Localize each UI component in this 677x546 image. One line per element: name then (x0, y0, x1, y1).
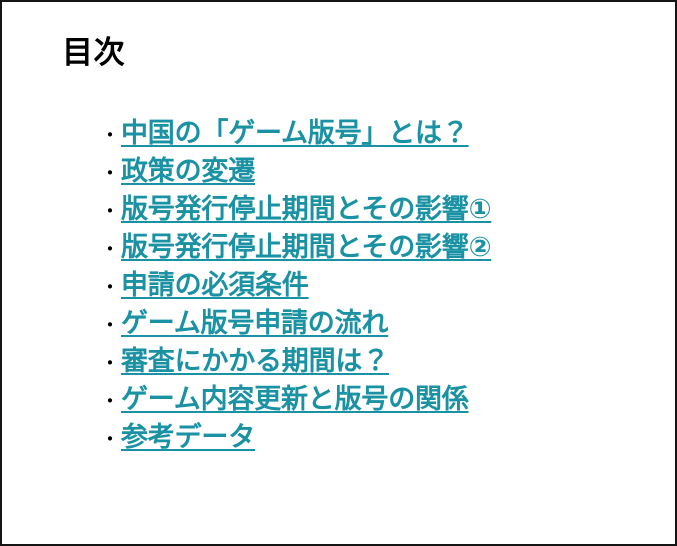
list-item: ・ 版号発行停止期間とその影響② (100, 228, 667, 266)
list-item: ・ 中国の「ゲーム版号」とは？ (100, 114, 667, 152)
bullet-icon: ・ (100, 155, 121, 193)
toc-link-1[interactable]: 中国の「ゲーム版号」とは？ (121, 114, 469, 152)
list-item: ・ ゲーム内容更新と版号の関係 (100, 380, 667, 418)
bullet-icon: ・ (100, 231, 121, 269)
list-item: ・ 政策の変遷 (100, 152, 667, 190)
list-item: ・ 審査にかかる期間は？ (100, 342, 667, 380)
toc-link-8[interactable]: ゲーム内容更新と版号の関係 (121, 380, 469, 418)
toc-link-9[interactable]: 参考データ (121, 418, 255, 456)
toc-link-2[interactable]: 政策の変遷 (121, 152, 255, 190)
toc-link-5[interactable]: 申請の必須条件 (121, 266, 309, 304)
bullet-icon: ・ (100, 307, 121, 345)
toc-link-4[interactable]: 版号発行停止期間とその影響② (121, 228, 491, 266)
toc-link-6[interactable]: ゲーム版号申請の流れ (121, 304, 388, 342)
bullet-icon: ・ (100, 345, 121, 383)
list-item: ・ 申請の必須条件 (100, 266, 667, 304)
bullet-icon: ・ (100, 421, 121, 459)
page-title: 目次 (62, 34, 125, 71)
toc-link-3[interactable]: 版号発行停止期間とその影響① (121, 190, 491, 228)
list-item: ・ 版号発行停止期間とその影響① (100, 190, 667, 228)
table-of-contents-list: ・ 中国の「ゲーム版号」とは？ ・ 政策の変遷 ・ 版号発行停止期間とその影響①… (100, 114, 667, 456)
bullet-icon: ・ (100, 193, 121, 231)
list-item: ・ 参考データ (100, 418, 667, 456)
bullet-icon: ・ (100, 117, 121, 155)
slide-canvas: 目次 ・ 中国の「ゲーム版号」とは？ ・ 政策の変遷 ・ 版号発行停止期間とその… (0, 0, 677, 546)
bullet-icon: ・ (100, 383, 121, 421)
list-item: ・ ゲーム版号申請の流れ (100, 304, 667, 342)
bullet-icon: ・ (100, 269, 121, 307)
toc-link-7[interactable]: 審査にかかる期間は？ (121, 342, 389, 380)
